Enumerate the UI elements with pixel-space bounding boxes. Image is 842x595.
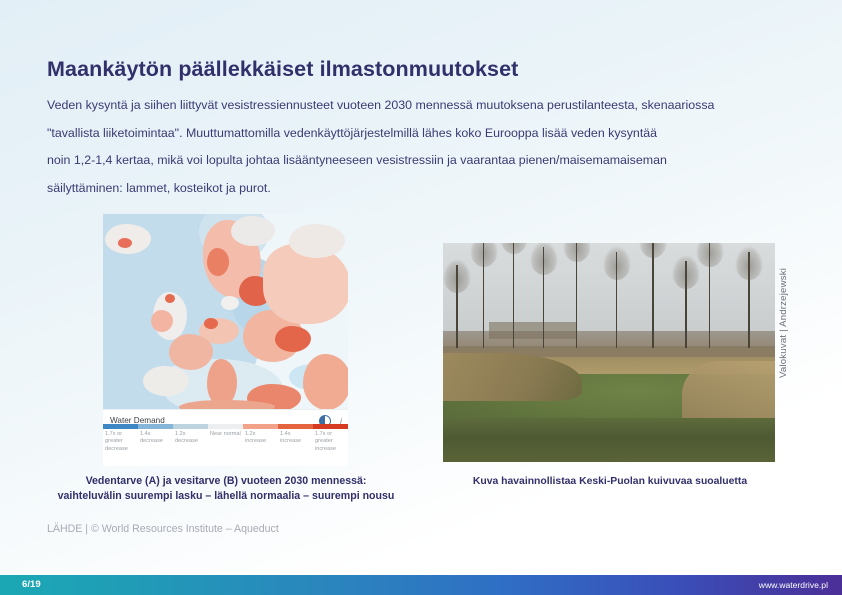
map-region-ukraine-hot [275,326,311,352]
water-demand-map-card: Water Demand i 1.7x or greater decrease … [103,214,348,466]
tree-icon [456,265,458,348]
page-number: 6/19 [22,575,41,595]
legend-label-0: 1.7x or greater decrease [103,431,138,453]
page-title: Maankäytön päällekkäiset ilmastonmuutoks… [47,57,518,82]
tree-icon [748,252,750,348]
map-region-north-scandinavia [231,216,275,246]
map-region-iceland-hot [118,238,132,248]
body-line-4: säilyttäminen: lammet, kosteikot ja puro… [47,175,817,203]
body-paragraph: Veden kysyntä ja siihen liittyvät vesist… [47,92,817,202]
legend-label-1: 1.4x decrease [138,431,173,453]
map-region-ireland [151,310,173,332]
legend-swatch-1 [138,424,173,429]
map-region-north-africa [179,400,275,409]
source-line: LÄHDE | © World Resources Institute – Aq… [47,523,279,535]
body-line-3: noin 1,2-1,4 kertaa, mikä voi lopulta jo… [47,147,817,175]
legend-label-5: 1.4x increase [278,431,313,453]
legend-label-3: Near normal [208,431,243,453]
map-caption-line-2: vaihteluvälin suurempi lasku – lähellä n… [58,490,395,502]
photo-credit: Valokuvat | Andrzejewski [778,228,794,378]
tree-icon [652,243,654,348]
tree-icon [616,252,618,348]
legend-swatch-4 [243,424,278,429]
map-caption-line-1: Vedentarve (A) ja vesitarve (B) vuoteen … [86,475,367,487]
tree-icon [709,243,711,348]
legend-swatch-0 [103,424,138,429]
map-region-north-russia [289,224,345,258]
map-region-caucasus [303,354,348,409]
map-canvas [103,214,348,409]
body-line-2: "tavallista liiketoimintaa". Muuttumatto… [47,120,817,148]
map-region-netherlands-hot [204,318,218,329]
body-line-1: Veden kysyntä ja siihen liittyvät vesist… [47,92,817,120]
map-legend: Water Demand i 1.7x or greater decrease … [103,409,348,466]
tree-icon [483,243,485,348]
tree-icon [543,247,545,348]
legend-color-bar [103,424,348,429]
legend-label-6: 1.7x or greater increase [313,431,348,453]
legend-label-row: 1.7x or greater decrease 1.4x decrease 1… [103,431,348,453]
map-region-scotland-hot [165,294,175,303]
map-region-denmark [221,296,239,310]
slide: Maankäytön päällekkäiset ilmastonmuutoks… [0,0,842,595]
map-region-norway-hot [207,248,229,276]
footer-bar: 6/19 www.waterdrive.pl [0,575,842,595]
tree-icon [685,261,687,349]
legend-swatch-5 [278,424,313,429]
map-region-france [169,334,213,370]
map-region-iberia [143,366,189,396]
photo-foreground [443,418,775,462]
photo-caption: Kuva havainnollistaa Keski-Puolan kuivuv… [440,476,780,487]
wetland-photo [443,243,775,462]
footer-url[interactable]: www.waterdrive.pl [759,575,828,595]
legend-swatch-3 [208,424,243,429]
tree-icon [576,243,578,348]
legend-label-2: 1.2x decrease [173,431,208,453]
tree-icon [513,243,515,348]
legend-swatch-2 [173,424,208,429]
legend-label-4: 1.2x increase [243,431,278,453]
map-caption: Vedentarve (A) ja vesitarve (B) vuoteen … [35,474,417,503]
legend-swatch-6 [313,424,348,429]
